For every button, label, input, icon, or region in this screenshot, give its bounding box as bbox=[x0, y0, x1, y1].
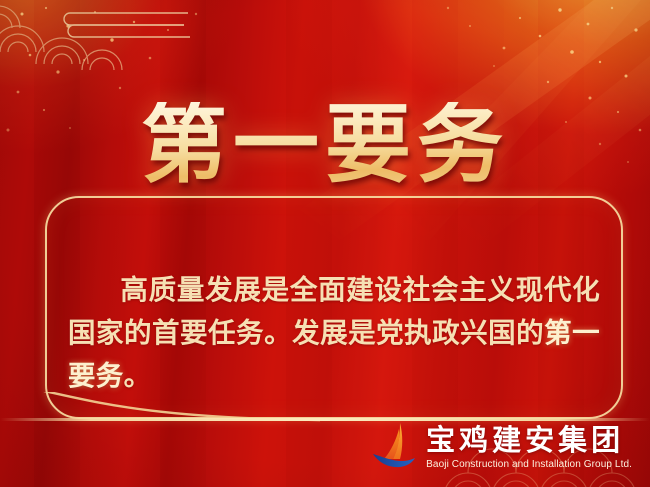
body-part-2: 。 bbox=[124, 360, 152, 391]
gold-curved-sweep-decoration bbox=[0, 392, 320, 428]
company-name-en: Baoji Construction and Installation Grou… bbox=[426, 458, 632, 471]
page-title: 第一要务 bbox=[0, 102, 650, 190]
background-stripes bbox=[0, 0, 650, 487]
company-name-cn: 宝鸡建安集团 bbox=[426, 426, 632, 457]
cloud-arc-pattern-icon bbox=[0, 0, 160, 99]
vignette-overlay bbox=[0, 0, 650, 487]
ribbon-line-motif-icon bbox=[52, 5, 192, 51]
body-paragraph: 高质量发展是全面建设社会主义现代化国家的首要任务。发展是党执政兴国的第一要务。 bbox=[68, 268, 600, 397]
body-part-1: 高质量发展是全面建设社会主义现代化国家的首要任务。发展是党执政兴国的 bbox=[68, 274, 600, 348]
logo-text-block: 宝鸡建安集团 Baoji Construction and Installati… bbox=[426, 426, 632, 471]
sail-flame-logo-mark-icon bbox=[369, 421, 417, 471]
company-logo: 宝鸡建安集团 Baoji Construction and Installati… bbox=[369, 421, 632, 471]
poster-canvas: 第一要务 高质量发展是全面建设社会主义现代化国家的首要任务。发展是党执政兴国的第… bbox=[0, 0, 650, 487]
